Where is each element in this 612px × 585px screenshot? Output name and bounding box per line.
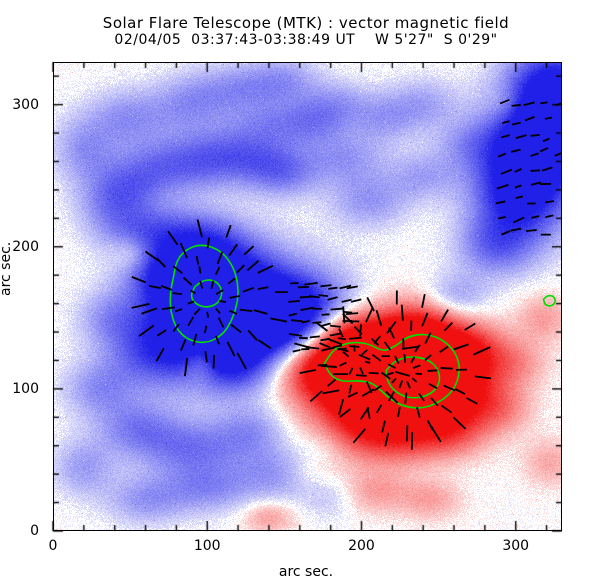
x-axis-title: arc sec. <box>0 564 612 580</box>
y-tick-label-100: 100 <box>0 381 39 397</box>
x-tick-label-0: 0 <box>49 538 58 554</box>
figure-title-line2: 02/04/05 03:37:43-03:38:49 UT W 5'27" S … <box>0 32 612 48</box>
x-tick-label-100: 100 <box>194 538 221 554</box>
magnetogram-figure: Solar Flare Telescope (MTK) : vector mag… <box>0 0 612 585</box>
magnetogram-image <box>53 62 562 531</box>
y-tick-label-300: 300 <box>0 97 39 113</box>
x-tick-label-200: 200 <box>348 538 375 554</box>
y-axis-title: arc sec. <box>0 242 14 296</box>
plot-area <box>53 62 562 531</box>
figure-title-line1: Solar Flare Telescope (MTK) : vector mag… <box>0 14 612 32</box>
y-tick-label-0: 0 <box>0 523 39 539</box>
x-tick-label-300: 300 <box>502 538 529 554</box>
